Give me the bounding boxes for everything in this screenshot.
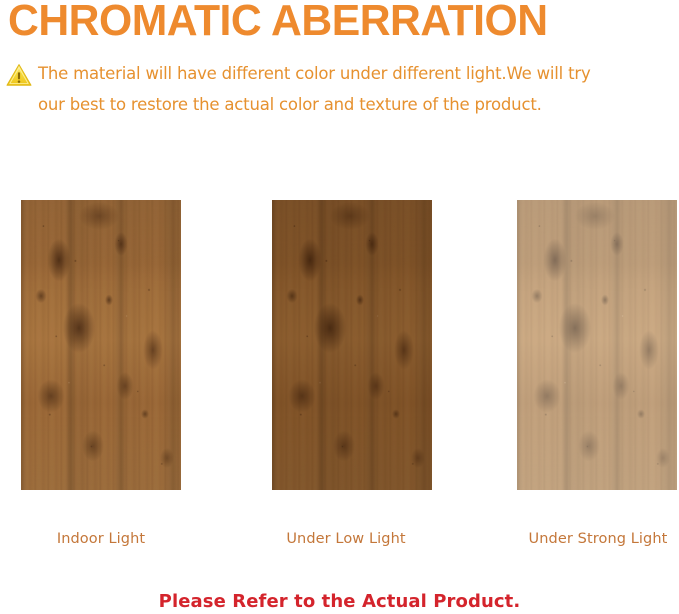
footer-note: Please Refer to the Actual Product. xyxy=(0,591,679,612)
wood-swatch-strong-light xyxy=(517,200,677,490)
page-title: CHROMATIC ABERRATION xyxy=(8,0,548,46)
lighting-tint-strong-light xyxy=(517,200,677,490)
swatch-caption-low-light: Under Low Light xyxy=(246,531,446,547)
notice-text: The material will have different color u… xyxy=(38,58,678,120)
lighting-tint-indoor xyxy=(21,200,181,490)
swatch-row xyxy=(0,200,679,492)
chromatic-aberration-notice: The material will have different color u… xyxy=(6,58,678,120)
swatch-caption-indoor: Indoor Light xyxy=(1,531,201,547)
wood-swatch-low-light xyxy=(272,200,432,490)
wood-swatch-indoor xyxy=(21,200,181,490)
lighting-tint-low-light xyxy=(272,200,432,490)
warning-triangle-icon xyxy=(6,63,32,87)
swatch-caption-strong-light: Under Strong Light xyxy=(498,531,679,547)
